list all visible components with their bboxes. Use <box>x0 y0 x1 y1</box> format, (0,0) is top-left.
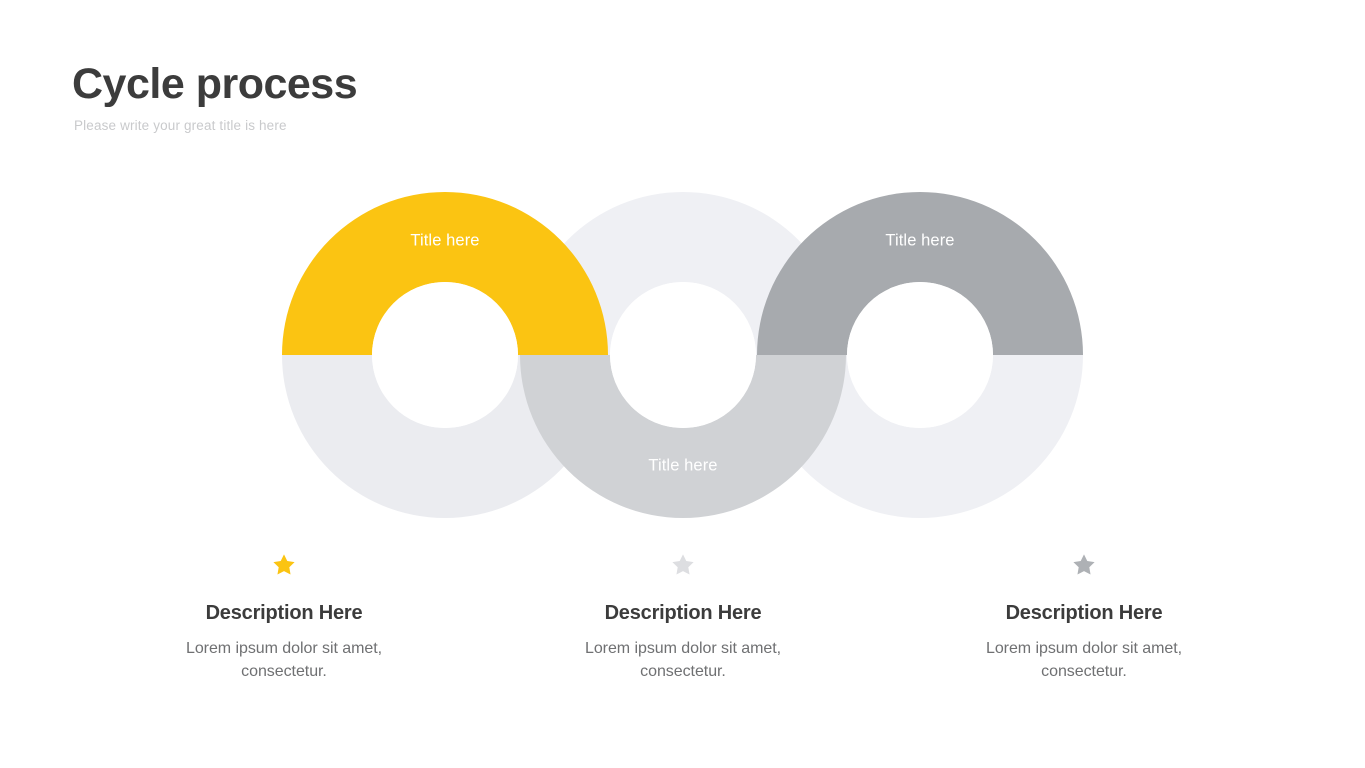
ring-label-1: Title here <box>410 232 479 251</box>
cycle-rings-svg <box>0 0 1365 560</box>
ring-1-center-hole <box>372 282 518 428</box>
description-body: Lorem ipsum dolor sit amet, consectetur. <box>984 637 1184 683</box>
ring-3-center-hole <box>847 282 993 428</box>
cycle-diagram: Title here Title here Title here <box>0 0 1365 560</box>
star-icon <box>670 552 696 578</box>
description-title: Description Here <box>518 602 848 625</box>
ring-label-3: Title here <box>885 232 954 251</box>
star-icon-3 <box>919 552 1249 578</box>
description-body: Lorem ipsum dolor sit amet, consectetur. <box>184 637 384 683</box>
star-icon-1 <box>119 552 449 578</box>
description-item-3: Description Here Lorem ipsum dolor sit a… <box>919 552 1249 683</box>
ring-2-center-hole <box>610 282 756 428</box>
star-icon <box>271 552 297 578</box>
description-item-2: Description Here Lorem ipsum dolor sit a… <box>518 552 848 683</box>
ring-label-2: Title here <box>648 457 717 476</box>
description-title: Description Here <box>919 602 1249 625</box>
description-body: Lorem ipsum dolor sit amet, consectetur. <box>583 637 783 683</box>
star-icon-2 <box>518 552 848 578</box>
description-row: Description Here Lorem ipsum dolor sit a… <box>0 552 1365 732</box>
description-title: Description Here <box>119 602 449 625</box>
description-item-1: Description Here Lorem ipsum dolor sit a… <box>119 552 449 683</box>
star-icon <box>1071 552 1097 578</box>
